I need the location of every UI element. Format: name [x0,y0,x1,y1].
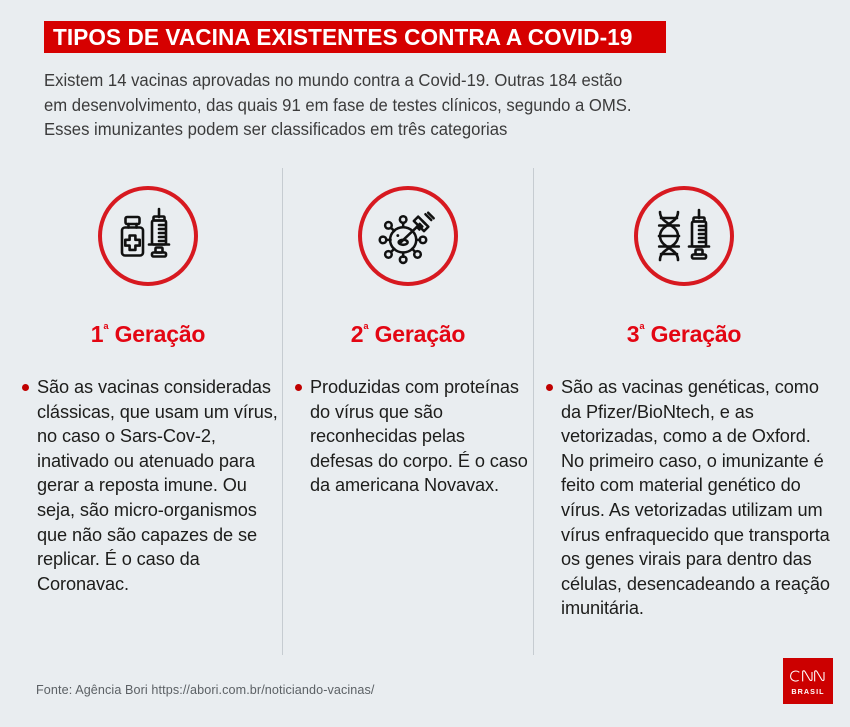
category-heading-geracao-3: 3ª Geração [534,321,834,348]
page-title: TIPOS DE VACINA EXISTENTES CONTRA A COVI… [53,24,633,51]
icon-badge-geracao-2 [358,186,458,286]
intro-line-1: Existem 14 vacinas aprovadas no mundo co… [44,68,665,93]
infographic-root: TIPOS DE VACINA EXISTENTES CONTRA A COVI… [0,0,850,727]
intro-line-2: em desenvolvimento, das quais 91 em fase… [44,93,665,118]
category-body-geracao-1: São as vacinas consideradas clássicas, q… [37,375,280,596]
category-body-geracao-2: Produzidas com proteínas do vírus que sã… [310,375,530,498]
bullet-dot-icon [546,384,553,391]
cnn-brasil-logo: BRASIL [783,658,833,704]
category-bullet-geracao-1: São as vacinas consideradas clássicas, q… [22,375,280,596]
category-heading-geracao-1: 1ª Geração [14,321,282,348]
source-credit: Fonte: Agência Bori https://abori.com.br… [36,683,375,697]
intro-paragraph: Existem 14 vacinas aprovadas no mundo co… [44,68,665,142]
category-column-geracao-3: 3ª Geração São as vacinas genéticas, com… [534,168,834,658]
category-body-geracao-3: São as vacinas genéticas, como da Pfizer… [561,375,834,621]
heading-number: 2 [351,321,364,347]
categories-section: 1ª Geração São as vacinas consideradas c… [0,168,850,658]
icon-badge-geracao-1 [98,186,198,286]
intro-line-3: Esses imunizantes podem ser classificado… [44,117,665,142]
category-bullet-geracao-2: Produzidas com proteínas do vírus que sã… [295,375,530,498]
category-column-geracao-1: 1ª Geração São as vacinas consideradas c… [14,168,282,658]
category-bullet-geracao-3: São as vacinas genéticas, como da Pfizer… [546,375,834,621]
heading-number: 3 [627,321,640,347]
page-title-bar: TIPOS DE VACINA EXISTENTES CONTRA A COVI… [44,21,666,53]
heading-word: Geração [115,321,206,347]
heading-number: 1 [91,321,104,347]
heading-ordinal: ª [103,322,108,338]
heading-word: Geração [375,321,466,347]
heading-word: Geração [651,321,742,347]
category-column-geracao-2: 2ª Geração Produzidas com proteínas do v… [283,168,533,658]
heading-ordinal: ª [363,322,368,338]
bullet-dot-icon [295,384,302,391]
vaccine-vial-syringe-icon [116,204,180,268]
dna-syringe-icon [652,204,716,268]
heading-ordinal: ª [639,322,644,338]
bullet-dot-icon [22,384,29,391]
icon-badge-geracao-3 [634,186,734,286]
virus-syringe-icon [377,205,439,267]
cnn-logo-subtitle: BRASIL [791,687,824,696]
category-heading-geracao-2: 2ª Geração [283,321,533,348]
cnn-wordmark-icon [788,666,828,686]
